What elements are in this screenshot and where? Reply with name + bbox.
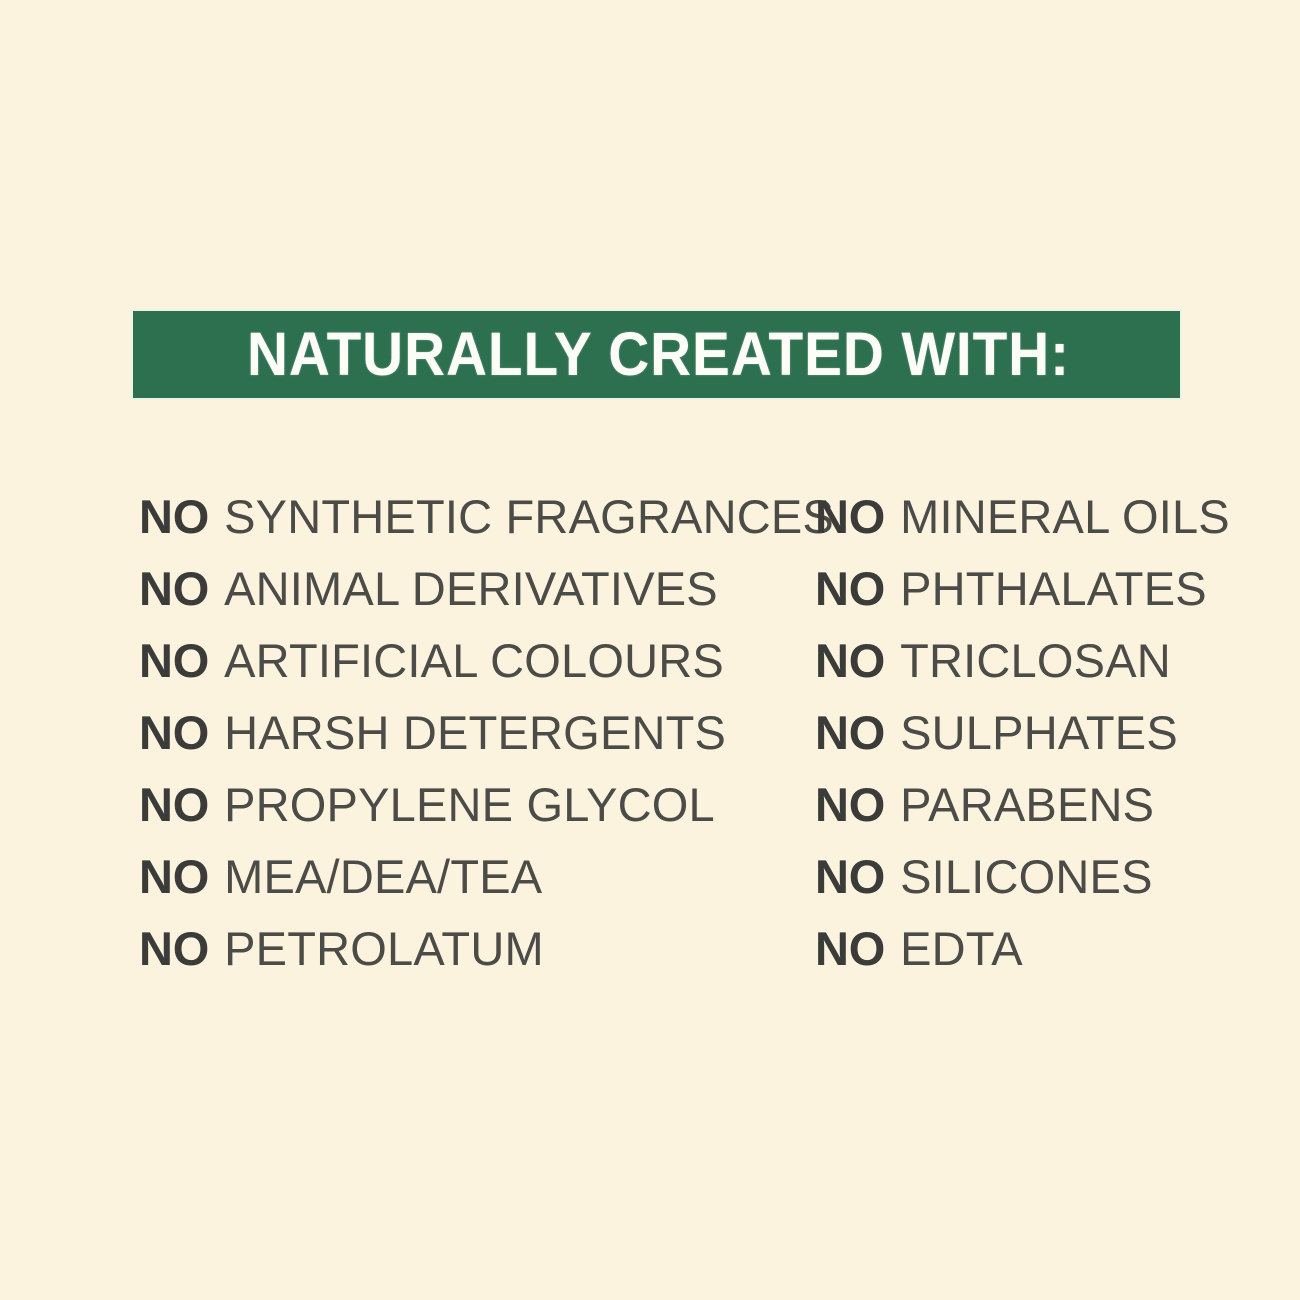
claim-prefix: NO [139,637,209,684]
claim-label: HARSH DETERGENTS [224,709,726,756]
claim-item-mineral-oils: NO MINERAL OILS [815,480,1230,552]
claim-item-propylene-glycol: NO PROPYLENE GLYCOL [139,768,834,840]
claim-item-mea-dea-tea: NO MEA/DEA/TEA [139,840,834,912]
claim-prefix: NO [139,925,209,972]
claim-prefix: NO [139,565,209,612]
page-title: NATURALLY CREATED WITH: [247,324,1070,385]
claim-item-petrolatum: NO PETROLATUM [139,912,834,984]
claim-label: MEA/DEA/TEA [224,853,542,900]
claim-label: TRICLOSAN [900,637,1171,684]
claim-prefix: NO [815,565,885,612]
claim-label: PROPYLENE GLYCOL [224,781,715,828]
claims-column-right: NO MINERAL OILS NO PHTHALATES NO TRICLOS… [815,480,1230,984]
claim-label: PETROLATUM [224,925,544,972]
claim-prefix: NO [815,493,885,540]
claim-prefix: NO [139,709,209,756]
claim-label: SILICONES [900,853,1153,900]
claim-item-silicones: NO SILICONES [815,840,1230,912]
claim-item-animal-derivatives: NO ANIMAL DERIVATIVES [139,552,834,624]
claim-label: PHTHALATES [900,565,1207,612]
claim-item-harsh-detergents: NO HARSH DETERGENTS [139,696,834,768]
claim-prefix: NO [815,925,885,972]
claim-prefix: NO [139,853,209,900]
header-banner: NATURALLY CREATED WITH: [133,311,1180,398]
claim-prefix: NO [139,781,209,828]
poster-canvas: NATURALLY CREATED WITH: NO SYNTHETIC FRA… [0,0,1300,1300]
claim-prefix: NO [815,637,885,684]
claim-item-sulphates: NO SULPHATES [815,696,1230,768]
claim-item-triclosan: NO TRICLOSAN [815,624,1230,696]
claim-label: ARTIFICIAL COLOURS [224,637,724,684]
claim-prefix: NO [815,781,885,828]
claim-prefix: NO [139,493,209,540]
claim-label: PARABENS [900,781,1154,828]
claim-prefix: NO [815,709,885,756]
claim-label: ANIMAL DERIVATIVES [224,565,718,612]
claim-label: SULPHATES [900,709,1178,756]
claim-label: SYNTHETIC FRAGRANCES [224,493,834,540]
claims-column-left: NO SYNTHETIC FRAGRANCES NO ANIMAL DERIVA… [139,480,834,984]
claim-item-synthetic-fragrances: NO SYNTHETIC FRAGRANCES [139,480,834,552]
claims-grid: NO SYNTHETIC FRAGRANCES NO ANIMAL DERIVA… [0,480,1300,1000]
claim-prefix: NO [815,853,885,900]
claim-label: EDTA [900,925,1023,972]
claim-item-artificial-colours: NO ARTIFICIAL COLOURS [139,624,834,696]
claim-label: MINERAL OILS [900,493,1230,540]
claim-item-edta: NO EDTA [815,912,1230,984]
claim-item-parabens: NO PARABENS [815,768,1230,840]
claim-item-phthalates: NO PHTHALATES [815,552,1230,624]
